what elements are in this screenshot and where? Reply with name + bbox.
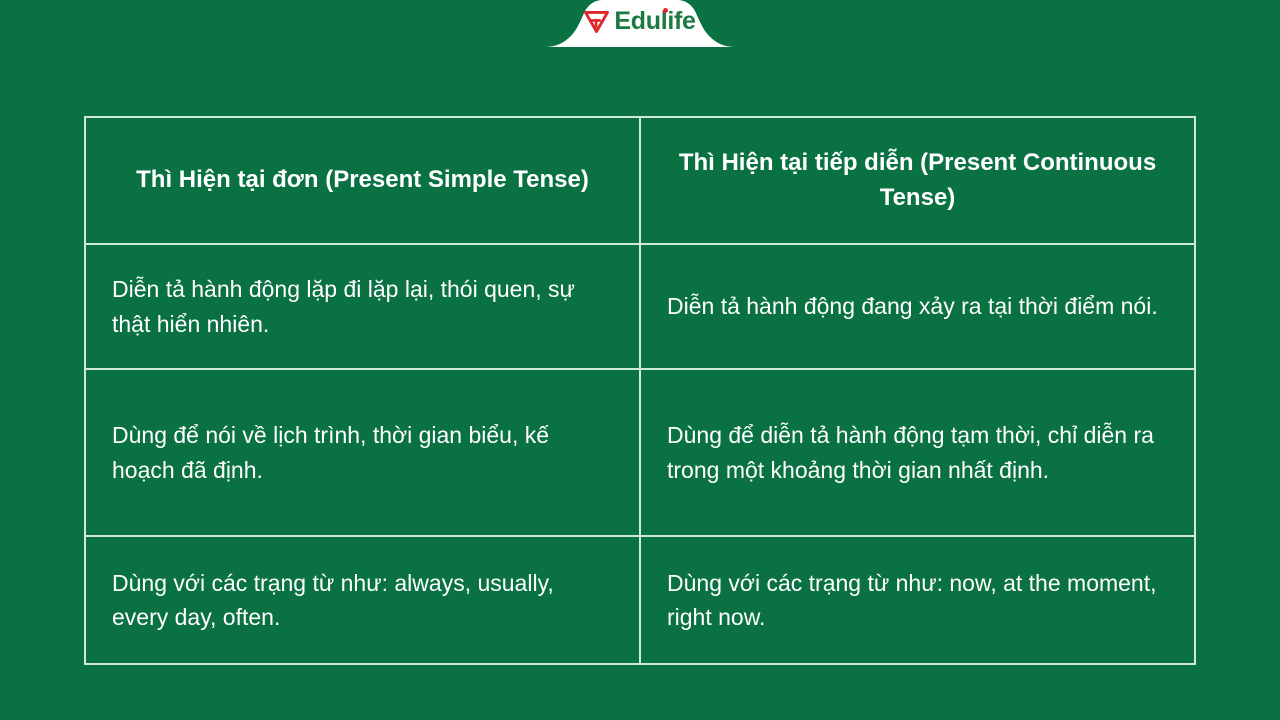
cell-continuous-adverbs: Dùng với các trạng từ như: now, at the m… bbox=[640, 536, 1195, 664]
edulife-triangle-logo-icon bbox=[584, 11, 609, 33]
table-header-row: Thì Hiện tại đơn (Present Simple Tense) … bbox=[85, 117, 1195, 244]
column-header-present-simple: Thì Hiện tại đơn (Present Simple Tense) bbox=[85, 117, 640, 244]
brand-logo-tab: Edulife bbox=[545, 0, 735, 47]
column-header-present-continuous: Thì Hiện tại tiếp diễn (Present Continuo… bbox=[640, 117, 1195, 244]
cell-simple-adverbs: Dùng với các trạng từ như: always, usual… bbox=[85, 536, 640, 664]
tense-comparison-table: Thì Hiện tại đơn (Present Simple Tense) … bbox=[84, 116, 1196, 665]
table-row: Dùng với các trạng từ như: always, usual… bbox=[85, 536, 1195, 664]
tense-comparison-table-container: Thì Hiện tại đơn (Present Simple Tense) … bbox=[84, 116, 1196, 663]
cell-continuous-usage-temporary: Dùng để diễn tả hành động tạm thời, chỉ … bbox=[640, 369, 1195, 536]
cell-simple-usage-habit: Diễn tả hành động lặp đi lặp lại, thói q… bbox=[85, 244, 640, 369]
table-row: Dùng để nói về lịch trình, thời gian biể… bbox=[85, 369, 1195, 536]
table-body: Diễn tả hành động lặp đi lặp lại, thói q… bbox=[85, 244, 1195, 664]
table-header: Thì Hiện tại đơn (Present Simple Tense) … bbox=[85, 117, 1195, 244]
brand-wordmark: Edulife bbox=[614, 9, 695, 34]
brand-wordmark-text: Edulife bbox=[614, 7, 695, 35]
cell-continuous-usage-now: Diễn tả hành động đang xảy ra tại thời đ… bbox=[640, 244, 1195, 369]
cell-simple-usage-schedule: Dùng để nói về lịch trình, thời gian biể… bbox=[85, 369, 640, 536]
table-row: Diễn tả hành động lặp đi lặp lại, thói q… bbox=[85, 244, 1195, 369]
